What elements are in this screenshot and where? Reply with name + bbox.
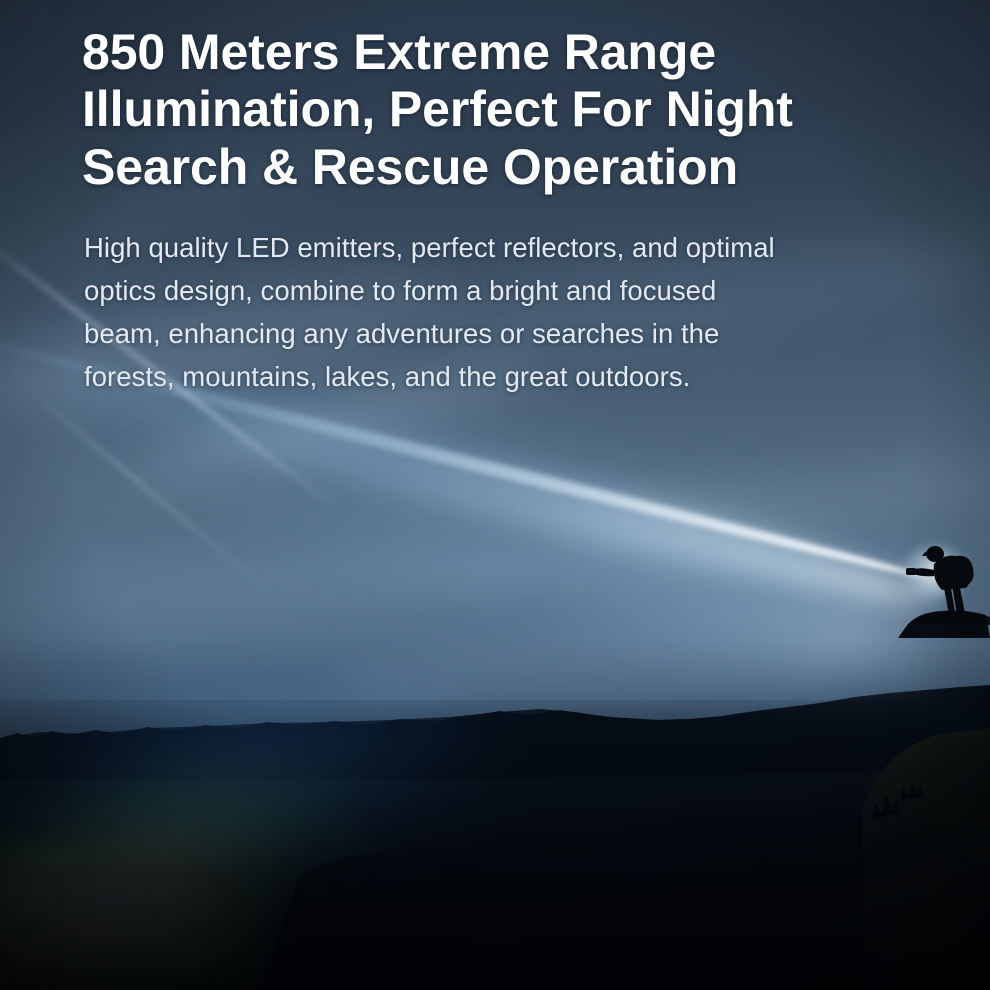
page-title: 850 Meters Extreme Range Illumination, P… — [82, 24, 982, 196]
headline-line-3: Search & Rescue Operation — [82, 139, 982, 196]
description-line-1: High quality LED emitters, perfect refle… — [84, 226, 982, 269]
headline-line-2: Illumination, Perfect For Night — [82, 81, 982, 138]
product-feature-poster: 850 Meters Extreme Range Illumination, P… — [0, 0, 990, 990]
headline-line-1: 850 Meters Extreme Range — [82, 24, 982, 81]
foreground-terrain — [0, 690, 990, 990]
description-line-4: forests, mountains, lakes, and the great… — [84, 355, 982, 398]
copy-block: 850 Meters Extreme Range Illumination, P… — [82, 24, 982, 398]
flashlight-operator-silhouette — [890, 528, 990, 638]
description-line-2: optics design, combine to form a bright … — [84, 269, 982, 312]
description-line-3: beam, enhancing any adventures or search… — [84, 312, 982, 355]
description-text: High quality LED emitters, perfect refle… — [84, 226, 982, 398]
